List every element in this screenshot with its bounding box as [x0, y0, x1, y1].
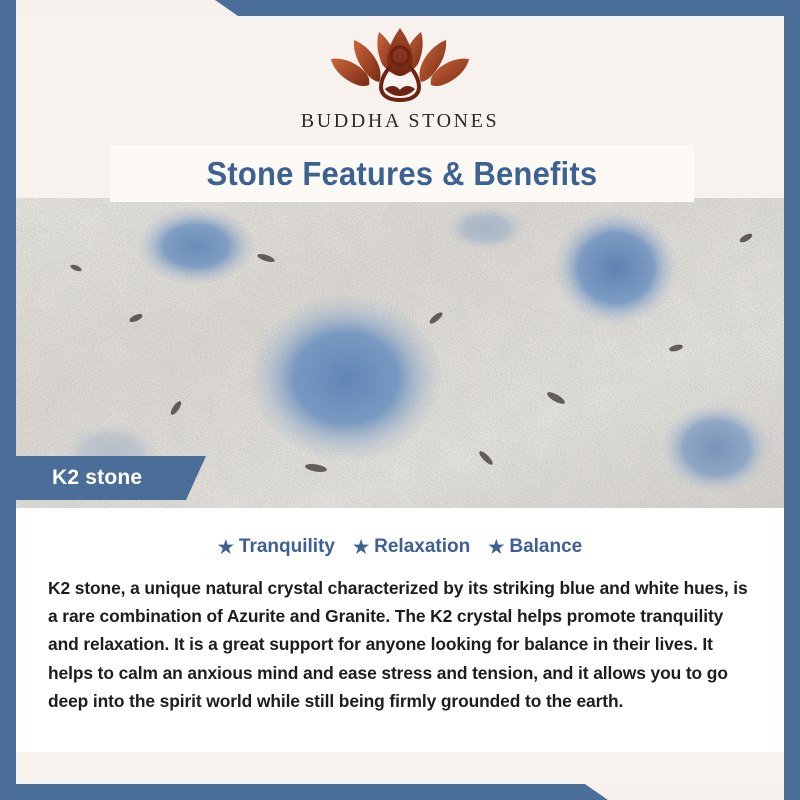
stone-caption-badge: K2 stone	[16, 456, 206, 500]
benefit-label: Balance	[509, 536, 582, 558]
frame-top-bar	[0, 0, 800, 16]
benefits-list: ★ Tranquility ★ Relaxation ★ Balance	[38, 536, 762, 558]
page-title: Stone Features & Benefits	[207, 155, 598, 193]
brand-name: BUDDHA STONES	[301, 110, 499, 133]
benefit-item-relaxation: ★ Relaxation	[353, 536, 470, 558]
star-icon: ★	[353, 538, 369, 556]
description-panel: ★ Tranquility ★ Relaxation ★ Balance K2 …	[16, 508, 784, 768]
bottom-cream-strip	[16, 752, 784, 768]
stone-caption-text: K2 stone	[52, 466, 142, 490]
benefit-item-balance: ★ Balance	[488, 536, 582, 558]
brand-header: BUDDHA STONES	[16, 16, 784, 145]
description-text: K2 stone, a unique natural crystal chara…	[38, 574, 762, 715]
section-title-banner: Stone Features & Benefits	[110, 145, 694, 202]
star-icon: ★	[218, 538, 234, 556]
frame-left-bar	[0, 0, 16, 800]
benefit-item-tranquility: ★ Tranquility	[218, 536, 335, 558]
benefit-label: Tranquility	[239, 536, 335, 558]
frame-bottom-bar	[0, 784, 800, 800]
lotus-meditation-icon	[325, 26, 475, 108]
infographic-page: BUDDHA STONES	[0, 0, 800, 800]
star-icon: ★	[488, 538, 504, 556]
benefit-label: Relaxation	[374, 536, 470, 558]
frame-right-bar	[784, 0, 800, 800]
content-card: BUDDHA STONES	[16, 16, 784, 784]
